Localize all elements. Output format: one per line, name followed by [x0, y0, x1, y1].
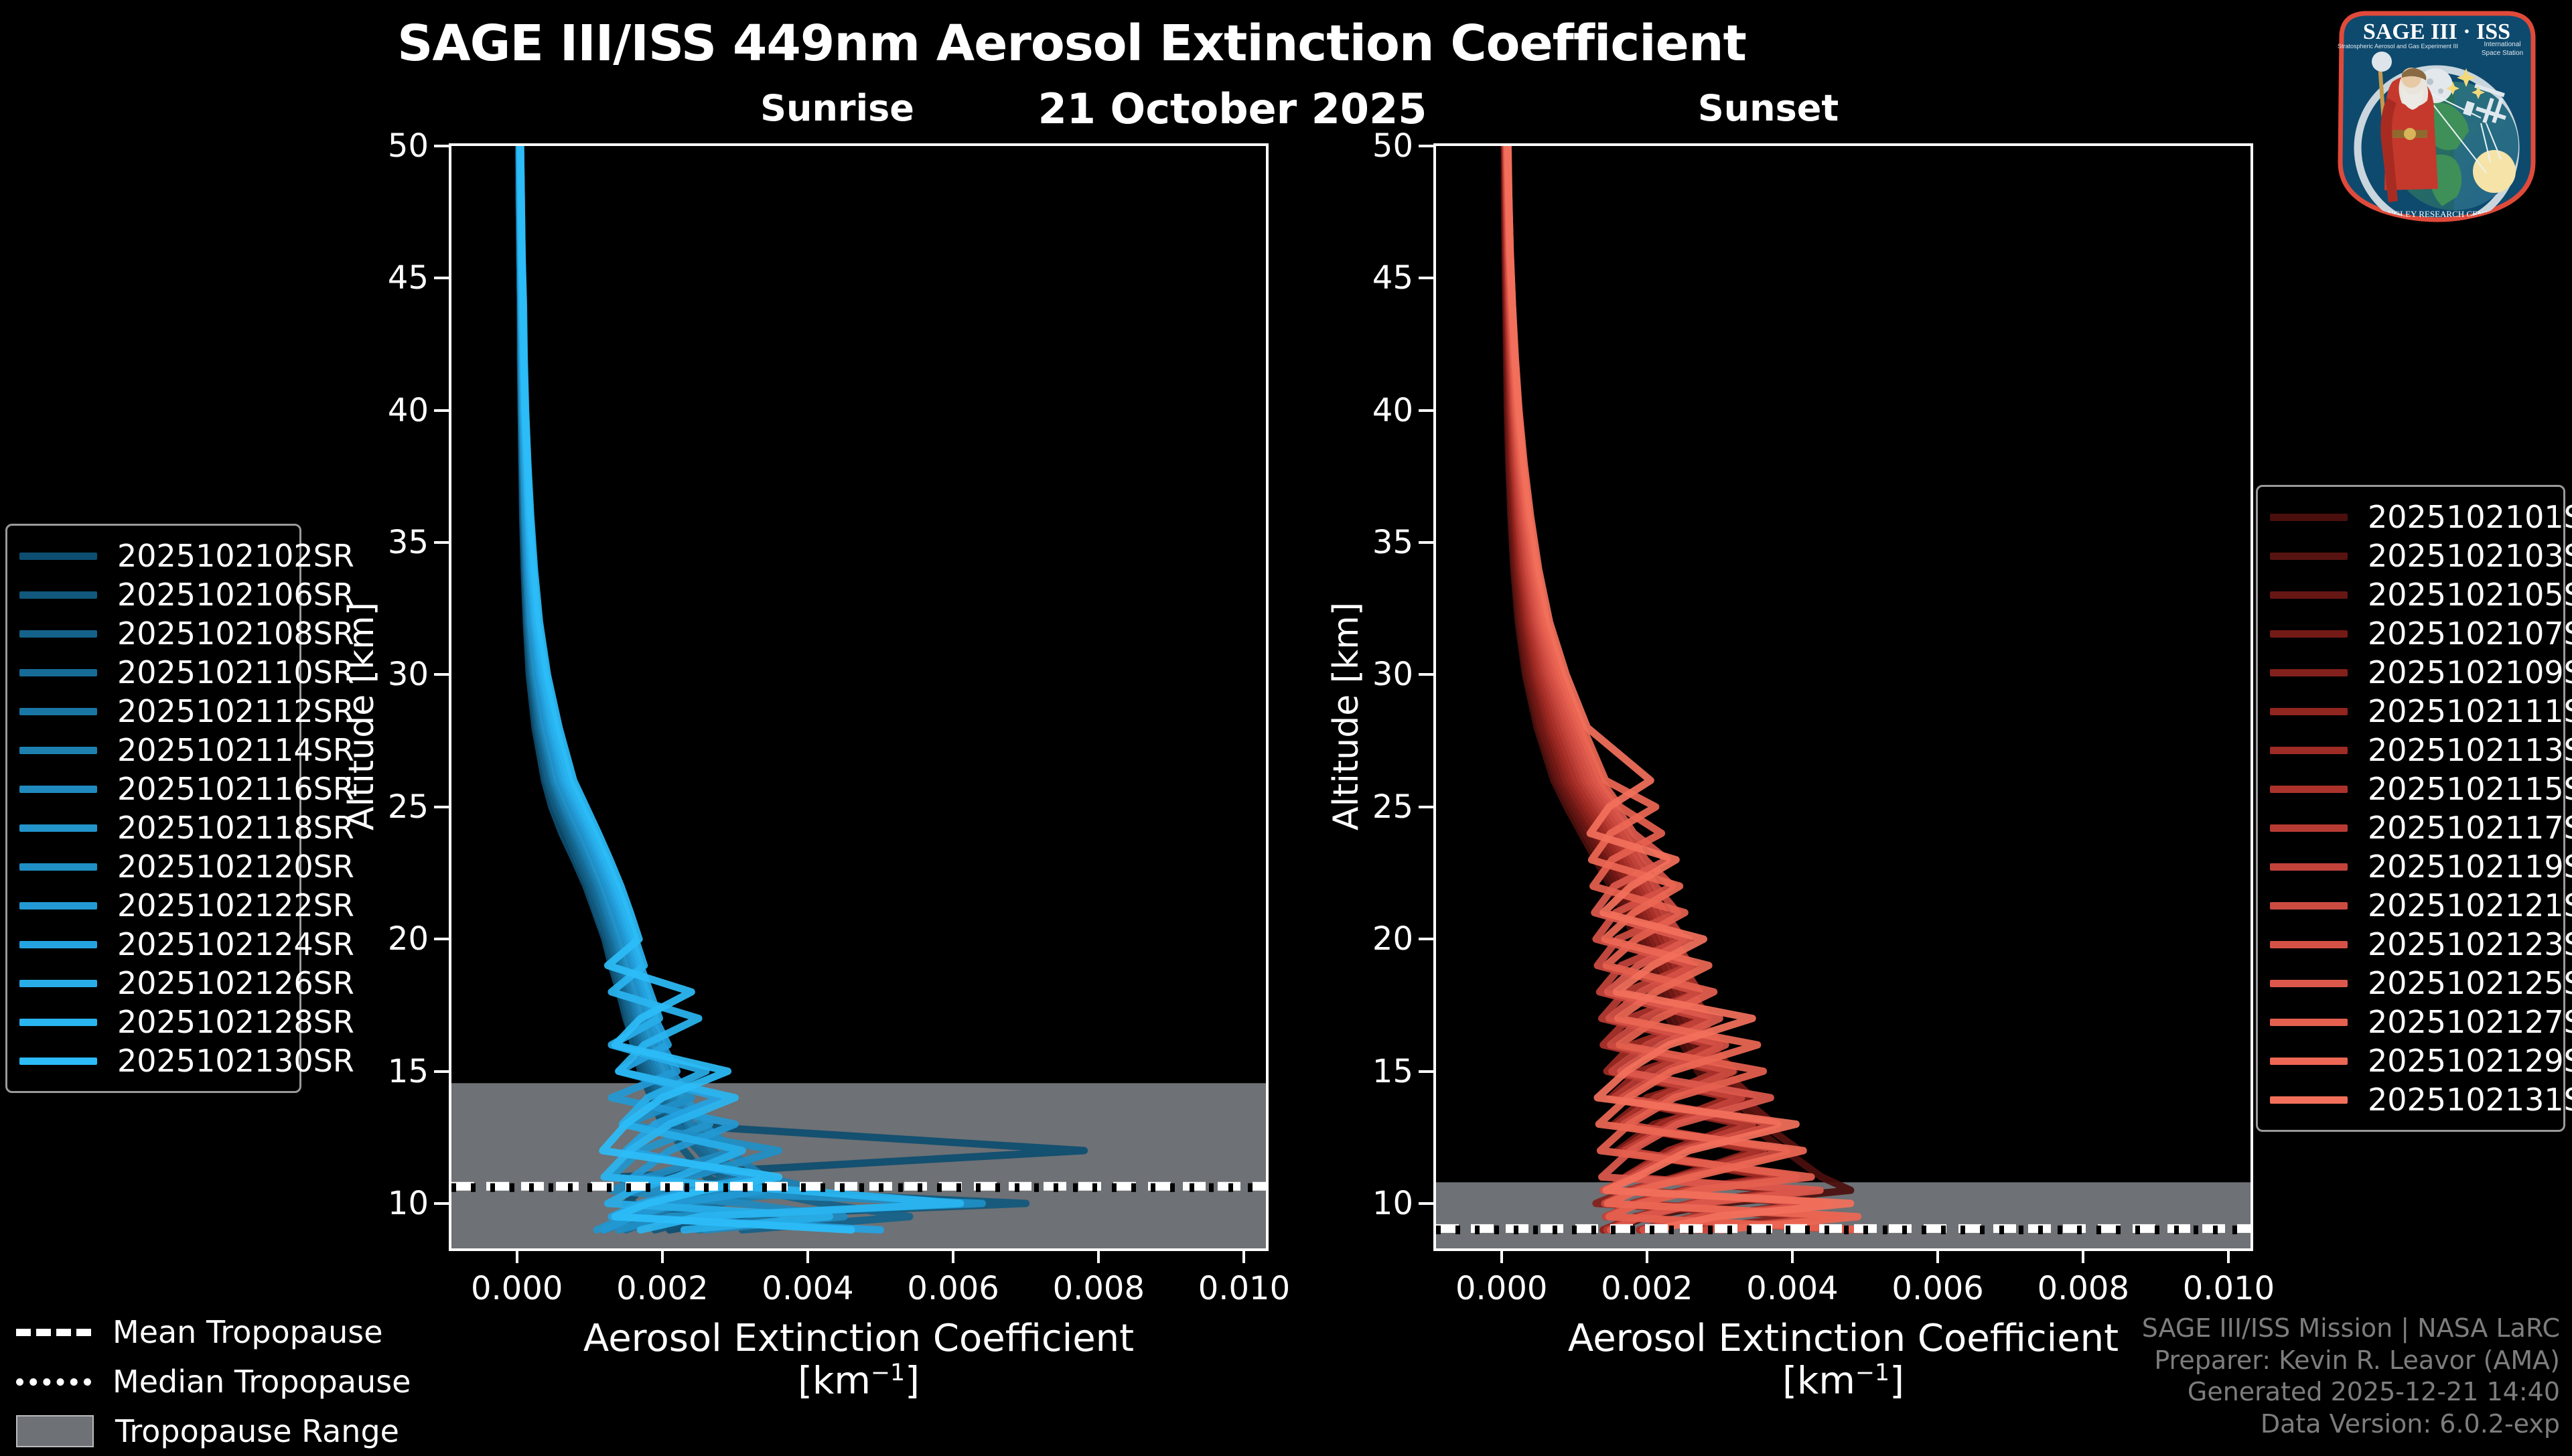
- y-tick: [1419, 409, 1433, 412]
- footer-credits: SAGE III/ISS Mission | NASA LaRCPreparer…: [2142, 1313, 2560, 1440]
- legend-item-2025102106SR[interactable]: 2025102106SR: [19, 575, 287, 614]
- legend-swatch: [19, 1019, 97, 1026]
- y-tick: [434, 673, 449, 676]
- y-tick-label: 10: [1372, 1185, 1413, 1222]
- x-tick: [1242, 1248, 1245, 1263]
- series-legend-sunset[interactable]: 2025102101SS2025102103SS2025102105SS2025…: [2256, 485, 2565, 1132]
- legend-swatch: [2270, 1019, 2348, 1026]
- y-tick-label: 15: [1372, 1053, 1413, 1090]
- y-tick: [434, 938, 449, 940]
- logo-subtitle-right-line2: Space Station: [2482, 50, 2523, 57]
- legend-label: 2025102102SR: [117, 538, 354, 574]
- legend-item-2025102125SS[interactable]: 2025102125SS: [2270, 964, 2551, 1003]
- legend-swatch: [19, 553, 97, 560]
- legend-swatch: [2270, 980, 2348, 987]
- legend-label: 2025102126SR: [117, 965, 354, 1001]
- x-tick: [1936, 1248, 1939, 1263]
- tropopause-legend-item: Mean Tropopause: [16, 1307, 411, 1357]
- footer-line: Preparer: Kevin R. Leavor (AMA): [2142, 1345, 2560, 1377]
- y-tick-label: 20: [388, 920, 429, 958]
- y-tick: [434, 277, 449, 279]
- legend-item-2025102131SS[interactable]: 2025102131SS: [2270, 1080, 2551, 1119]
- y-tick: [1419, 1070, 1433, 1073]
- logo-subtitle-left: Stratospheric Aerosol and Gas Experiment…: [2338, 43, 2458, 50]
- legend-item-2025102108SR[interactable]: 2025102108SR: [19, 614, 287, 653]
- y-tick: [434, 145, 449, 147]
- y-tick-label: 15: [388, 1053, 429, 1090]
- sage-iii-iss-logo: BALL · NASA LANGLEY RESEARCH CENTER · TA…: [2323, 4, 2551, 225]
- legend-label: 2025102125SS: [2368, 965, 2572, 1001]
- legend-label: 2025102106SR: [117, 577, 354, 613]
- legend-label: 2025102120SR: [117, 849, 354, 885]
- x-tick: [1646, 1248, 1648, 1263]
- x-tick: [952, 1248, 954, 1263]
- y-tick-label: 10: [388, 1185, 429, 1222]
- legend-item-2025102123SS[interactable]: 2025102123SS: [2270, 925, 2551, 964]
- legend-label: 2025102101SS: [2368, 499, 2572, 535]
- series-legend-sunrise[interactable]: 2025102102SR2025102106SR2025102108SR2025…: [5, 524, 301, 1093]
- legend-label: 2025102129SS: [2368, 1043, 2572, 1079]
- x-tick: [806, 1248, 809, 1263]
- x-tick-label: 0.002: [616, 1270, 708, 1307]
- y-tick: [434, 806, 449, 808]
- footer-line: Data Version: 6.0.2-exp: [2142, 1408, 2560, 1441]
- legend-label: 2025102109SS: [2368, 654, 2572, 690]
- legend-swatch: [19, 747, 97, 754]
- legend-swatch: [19, 630, 97, 638]
- legend-swatch: [19, 824, 97, 832]
- y-tick-label: 50: [388, 127, 429, 165]
- x-tick-label: 0.010: [1198, 1270, 1290, 1307]
- tropopause-legend-label: Median Tropopause: [113, 1364, 411, 1400]
- x-tick: [1500, 1248, 1503, 1263]
- y-tick-label: 30: [388, 656, 429, 693]
- legend-item-2025102127SS[interactable]: 2025102127SS: [2270, 1003, 2551, 1041]
- x-axis-label-sunrise: Aerosol Extinction Coefficient [km−1]: [449, 1318, 1269, 1402]
- legend-swatch: [19, 786, 97, 793]
- date-subtitle: 21 October 2025: [964, 84, 1500, 133]
- footer-line: SAGE III/ISS Mission | NASA LaRC: [2142, 1313, 2560, 1345]
- x-axis-label-text: Aerosol Extinction Coefficient: [449, 1318, 1269, 1360]
- legend-item-2025102126SR[interactable]: 2025102126SR: [19, 964, 287, 1003]
- y-tick: [434, 541, 449, 544]
- profile-line-2025102120SR: [519, 146, 983, 1230]
- x-tick-label: 0.000: [471, 1270, 563, 1307]
- x-tick: [1791, 1248, 1794, 1263]
- legend-item-2025102113SS[interactable]: 2025102113SS: [2270, 731, 2551, 770]
- y-tick: [434, 409, 449, 412]
- legend-item-2025102128SR[interactable]: 2025102128SR: [19, 1003, 287, 1041]
- legend-item-2025102120SR[interactable]: 2025102120SR: [19, 847, 287, 886]
- plot-canvas-sunset: [1436, 146, 2250, 1248]
- chart-panel-sunset: 1015202530354045500.0000.0020.0040.0060.…: [1433, 143, 2253, 1251]
- y-tick-label: 45: [388, 259, 429, 297]
- legend-item-2025102115SS[interactable]: 2025102115SS: [2270, 770, 2551, 808]
- legend-label: 2025102119SS: [2368, 849, 2572, 885]
- tropopause-legend-item: Median Tropopause: [16, 1357, 411, 1406]
- y-tick-label: 40: [388, 392, 429, 429]
- legend-item-2025102107SS[interactable]: 2025102107SS: [2270, 614, 2551, 653]
- legend-item-2025102102SR[interactable]: 2025102102SR: [19, 536, 287, 575]
- y-tick: [1419, 938, 1433, 940]
- legend-swatch: [2270, 630, 2348, 638]
- x-tick: [661, 1248, 664, 1263]
- x-axis-label-text: Aerosol Extinction Coefficient: [1433, 1318, 2253, 1360]
- tropopause-line-swatch: [16, 1329, 91, 1336]
- legend-swatch: [2270, 863, 2348, 871]
- x-axis-units: [km−1]: [449, 1360, 1269, 1402]
- legend-swatch: [2270, 824, 2348, 832]
- y-tick-label: 25: [388, 788, 429, 826]
- y-tick: [1419, 277, 1433, 279]
- legend-item-2025102110SR[interactable]: 2025102110SR: [19, 653, 287, 692]
- legend-swatch: [2270, 902, 2348, 909]
- tropopause-line-swatch: [16, 1378, 91, 1386]
- legend-swatch: [19, 1058, 97, 1065]
- legend-label: 2025102103SS: [2368, 538, 2572, 574]
- legend-item-2025102121SS[interactable]: 2025102121SS: [2270, 886, 2551, 925]
- legend-label: 2025102107SS: [2368, 615, 2572, 652]
- legend-item-2025102124SR[interactable]: 2025102124SR: [19, 925, 287, 964]
- legend-item-2025102109SS[interactable]: 2025102109SS: [2270, 653, 2551, 692]
- legend-label: 2025102108SR: [117, 615, 354, 652]
- y-tick-label: 30: [1372, 656, 1413, 693]
- y-tick-label: 45: [1372, 259, 1413, 297]
- page-title: SAGE III/ISS 449nm Aerosol Extinction Co…: [0, 15, 2143, 72]
- legend-swatch: [2270, 1096, 2348, 1104]
- legend-label: 2025102130SR: [117, 1043, 354, 1079]
- x-tick: [2227, 1248, 2230, 1263]
- x-tick-label: 0.002: [1601, 1270, 1693, 1307]
- y-tick: [1419, 145, 1433, 147]
- legend-item-2025102105SS[interactable]: 2025102105SS: [2270, 575, 2551, 614]
- y-tick-label: 35: [1372, 524, 1413, 561]
- x-tick-label: 0.008: [1053, 1270, 1145, 1307]
- legend-item-2025102122SR[interactable]: 2025102122SR: [19, 886, 287, 925]
- legend-label: 2025102121SS: [2368, 887, 2572, 924]
- footer-line: Generated 2025-12-21 14:40: [2142, 1376, 2560, 1408]
- legend-swatch: [19, 669, 97, 676]
- legend-label: 2025102115SS: [2368, 771, 2572, 807]
- y-tick-label: 50: [1372, 127, 1413, 165]
- tropopause-legend-label: Mean Tropopause: [113, 1314, 383, 1350]
- x-tick-label: 0.008: [2038, 1270, 2129, 1307]
- legend-swatch: [19, 863, 97, 871]
- tropopause-range-swatch: [16, 1415, 94, 1447]
- y-tick-label: 35: [388, 524, 429, 561]
- legend-item-2025102116SR[interactable]: 2025102116SR: [19, 770, 287, 808]
- x-axis-label-sunset: Aerosol Extinction Coefficient [km−1]: [1433, 1318, 2253, 1402]
- legend-swatch: [19, 941, 97, 948]
- x-tick-label: 0.004: [1746, 1270, 1838, 1307]
- legend-item-2025102117SS[interactable]: 2025102117SS: [2270, 808, 2551, 847]
- legend-label: 2025102113SS: [2368, 732, 2572, 768]
- legend-item-2025102119SS[interactable]: 2025102119SS: [2270, 847, 2551, 886]
- tropopause-legend-label: Tropopause Range: [115, 1413, 399, 1449]
- legend-label: 2025102123SS: [2368, 926, 2572, 962]
- x-tick: [516, 1248, 518, 1263]
- legend-label: 2025102124SR: [117, 926, 354, 962]
- legend-label: 2025102127SS: [2368, 1004, 2572, 1040]
- legend-swatch: [19, 708, 97, 715]
- legend-label: 2025102128SR: [117, 1004, 354, 1040]
- y-tick: [1419, 673, 1433, 676]
- y-tick: [1419, 1202, 1433, 1205]
- legend-label: 2025102110SR: [117, 654, 354, 690]
- legend-label: 2025102111SS: [2368, 693, 2572, 729]
- y-tick: [434, 1070, 449, 1073]
- plot-canvas-sunrise: [451, 146, 1266, 1248]
- legend-item-2025102129SS[interactable]: 2025102129SS: [2270, 1041, 2551, 1080]
- legend-item-2025102112SR[interactable]: 2025102112SR: [19, 692, 287, 731]
- legend-label: 2025102116SR: [117, 771, 354, 807]
- tropopause-legend: Mean TropopauseMedian TropopauseTropopau…: [16, 1307, 411, 1456]
- logo-subtitle-right-line1: International: [2484, 41, 2520, 48]
- legend-swatch: [19, 902, 97, 909]
- legend-label: 2025102114SR: [117, 732, 354, 768]
- x-axis-units: [km−1]: [1433, 1360, 2253, 1402]
- chart-panel-sunrise: 1015202530354045500.0000.0020.0040.0060.…: [449, 143, 1269, 1251]
- legend-swatch: [19, 591, 97, 599]
- legend-swatch: [2270, 747, 2348, 754]
- legend-label: 2025102112SR: [117, 693, 354, 729]
- y-tick: [1419, 806, 1433, 808]
- tropopause-legend-item: Tropopause Range: [16, 1406, 411, 1456]
- legend-label: 2025102131SS: [2368, 1082, 2572, 1118]
- legend-swatch: [2270, 553, 2348, 560]
- y-tick: [1419, 541, 1433, 544]
- legend-item-2025102103SS[interactable]: 2025102103SS: [2270, 536, 2551, 575]
- x-tick-label: 0.004: [762, 1270, 853, 1307]
- legend-label: 2025102118SR: [117, 810, 354, 846]
- profile-line-2025102128SR: [520, 146, 960, 1230]
- legend-swatch: [2270, 941, 2348, 948]
- legend-swatch: [2270, 786, 2348, 793]
- legend-item-2025102111SS[interactable]: 2025102111SS: [2270, 692, 2551, 731]
- legend-swatch: [2270, 591, 2348, 599]
- x-tick-label: 0.006: [907, 1270, 999, 1307]
- legend-item-2025102114SR[interactable]: 2025102114SR: [19, 731, 287, 770]
- y-axis-label-sunset: Altitude [km]: [1326, 602, 1366, 830]
- legend-item-2025102130SR[interactable]: 2025102130SR: [19, 1041, 287, 1080]
- profile-line-2025102123SS: [1506, 146, 1829, 1230]
- x-tick: [1097, 1248, 1100, 1263]
- panel-label-sunrise: Sunrise: [690, 87, 985, 129]
- legend-label: 2025102117SS: [2368, 810, 2572, 846]
- legend-swatch: [19, 980, 97, 987]
- legend-label: 2025102122SR: [117, 887, 354, 924]
- x-tick-label: 0.000: [1455, 1270, 1547, 1307]
- x-tick: [2082, 1248, 2084, 1263]
- legend-swatch: [2270, 669, 2348, 676]
- y-tick-label: 20: [1372, 920, 1413, 958]
- legend-item-2025102118SR[interactable]: 2025102118SR: [19, 808, 287, 847]
- legend-item-2025102101SS[interactable]: 2025102101SS: [2270, 498, 2551, 536]
- x-tick-label: 0.006: [1891, 1270, 1983, 1307]
- panel-label-sunset: Sunset: [1621, 87, 1916, 129]
- logo-ring-text: BALL · NASA LANGLEY RESEARCH CENTER · TA…: [2323, 209, 2551, 219]
- legend-swatch: [2270, 514, 2348, 521]
- profile-line-2025102102SR: [519, 146, 1084, 1230]
- y-tick-label: 25: [1372, 788, 1413, 826]
- profile-line-2025102106SR: [519, 146, 1026, 1230]
- legend-label: 2025102105SS: [2368, 577, 2572, 613]
- y-tick-label: 40: [1372, 392, 1413, 429]
- x-tick-label: 0.010: [2183, 1270, 2275, 1307]
- legend-swatch: [2270, 1058, 2348, 1065]
- legend-swatch: [2270, 708, 2348, 715]
- y-tick: [434, 1202, 449, 1205]
